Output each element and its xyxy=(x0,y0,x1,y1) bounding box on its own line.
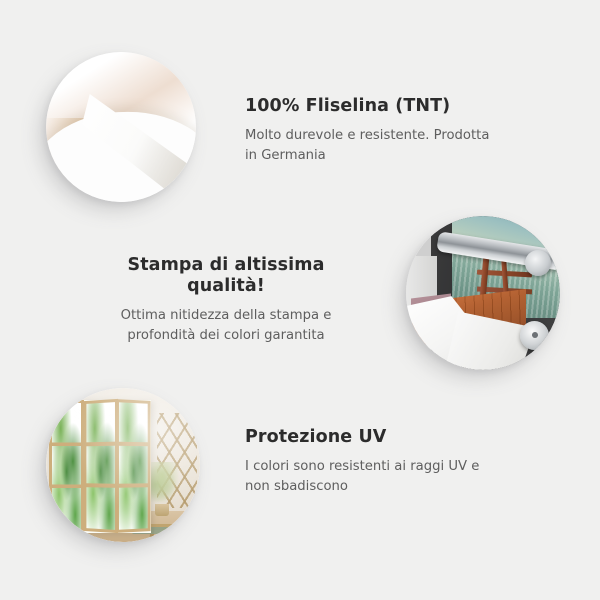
feature-heading-uv: Protezione UV xyxy=(245,427,505,448)
feature-heading-stampa: Stampa di altissima qualità! xyxy=(95,255,357,297)
room-divider-photo xyxy=(46,388,200,542)
room-light-glow xyxy=(46,388,200,542)
feature-text-stampa: Stampa di altissima qualità! Ottima niti… xyxy=(95,255,357,346)
feature-text-fliselina: 100% Fliselina (TNT) Molto durevole e re… xyxy=(245,96,505,166)
feature-text-uv: Protezione UV I colori sono resistenti a… xyxy=(245,427,505,497)
printer-drive-wheel xyxy=(520,321,549,350)
feature-infographic: 100% Fliselina (TNT) Molto durevole e re… xyxy=(0,0,600,600)
feature-image-uv xyxy=(46,388,200,542)
feature-image-fliselina xyxy=(46,52,196,202)
feature-body-fliselina: Molto durevole e resistente. Prodotta in… xyxy=(245,126,505,166)
peeling-wallpaper-photo xyxy=(46,52,196,202)
printing-machine-photo xyxy=(406,216,560,370)
feature-heading-fliselina: 100% Fliselina (TNT) xyxy=(245,96,505,117)
feature-image-stampa xyxy=(406,216,560,370)
printer-roller-end-cap xyxy=(525,250,551,276)
feature-body-stampa: Ottima nitidezza della stampa e profondi… xyxy=(95,306,357,346)
feature-body-uv: I colori sono resistenti ai raggi UV e n… xyxy=(245,457,505,497)
